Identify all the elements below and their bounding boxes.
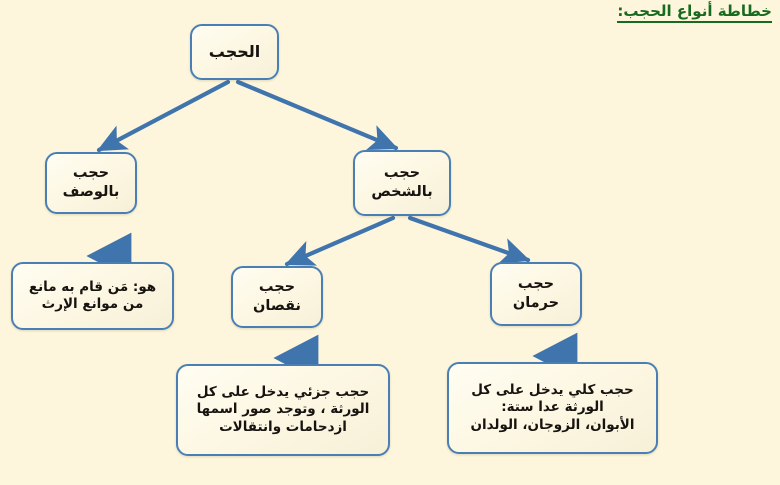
- node-line: حجب: [53, 164, 129, 183]
- edge-root-to-bishakhs: [238, 82, 396, 148]
- node-line: حجب كلي يدخل على كل: [455, 382, 650, 399]
- node-line: الحجب: [198, 42, 271, 62]
- node-definition-hajb-hirman[interactable]: حجب كلي يدخل على كل الورثة عدا ستة: الأب…: [447, 362, 658, 454]
- node-hajb-bish-shakhs-text: حجب بالشخص: [361, 164, 443, 201]
- node-hajb[interactable]: الحجب: [190, 24, 279, 80]
- node-definition-hajb-hirman-text: حجب كلي يدخل على كل الورثة عدا ستة: الأب…: [455, 382, 650, 434]
- node-line: الورثة عدا ستة:: [455, 399, 650, 416]
- node-line: نقصان: [239, 297, 315, 316]
- node-definition-hajb-nuqsan[interactable]: حجب جزئي يدخل على كل الورثة ، وتوجد صور …: [176, 364, 390, 456]
- node-line: هو: مَن قام به مانع: [19, 279, 166, 296]
- node-hajb-hirman[interactable]: حجب حرمان: [490, 262, 582, 326]
- edge-bishakhs-to-hirman: [410, 218, 528, 260]
- edge-root-to-bilwasf: [99, 82, 228, 150]
- node-definition-hajb-bil-wasf-text: هو: مَن قام به مانع من موانع الإرث: [19, 279, 166, 314]
- connector-layer: [0, 0, 780, 485]
- node-hajb-bil-wasf[interactable]: حجب بالوصف: [45, 152, 137, 214]
- node-hajb-bish-shakhs[interactable]: حجب بالشخص: [353, 150, 451, 216]
- node-definition-hajb-nuqsan-text: حجب جزئي يدخل على كل الورثة ، وتوجد صور …: [184, 384, 382, 436]
- node-hajb-nuqsan[interactable]: حجب نقصان: [231, 266, 323, 328]
- node-line: حجب جزئي يدخل على كل: [184, 384, 382, 401]
- node-hajb-hirman-text: حجب حرمان: [498, 275, 574, 312]
- page-title: خطاطة أنواع الحجب:: [617, 2, 772, 23]
- node-line: حجب: [498, 275, 574, 294]
- node-definition-hajb-bil-wasf[interactable]: هو: مَن قام به مانع من موانع الإرث: [11, 262, 174, 330]
- node-line: حجب: [239, 278, 315, 297]
- node-hajb-nuqsan-text: حجب نقصان: [239, 278, 315, 315]
- node-hajb-bil-wasf-text: حجب بالوصف: [53, 164, 129, 201]
- node-line: الأبوان، الزوجان، الولدان: [455, 417, 650, 434]
- node-line: بالشخص: [361, 183, 443, 202]
- node-line: من موانع الإرث: [19, 296, 166, 313]
- edge-bishakhs-to-nuqsan: [287, 218, 393, 264]
- diagram-canvas: خطاطة أنواع الحجب: الحجب حجب بالوصف حجب …: [0, 0, 780, 485]
- node-line: ازدحامات وانتقالات: [184, 419, 382, 436]
- node-line: حرمان: [498, 294, 574, 313]
- node-line: حجب: [361, 164, 443, 183]
- node-line: الورثة ، وتوجد صور اسمها: [184, 401, 382, 418]
- node-hajb-text: الحجب: [198, 42, 271, 62]
- node-line: بالوصف: [53, 183, 129, 202]
